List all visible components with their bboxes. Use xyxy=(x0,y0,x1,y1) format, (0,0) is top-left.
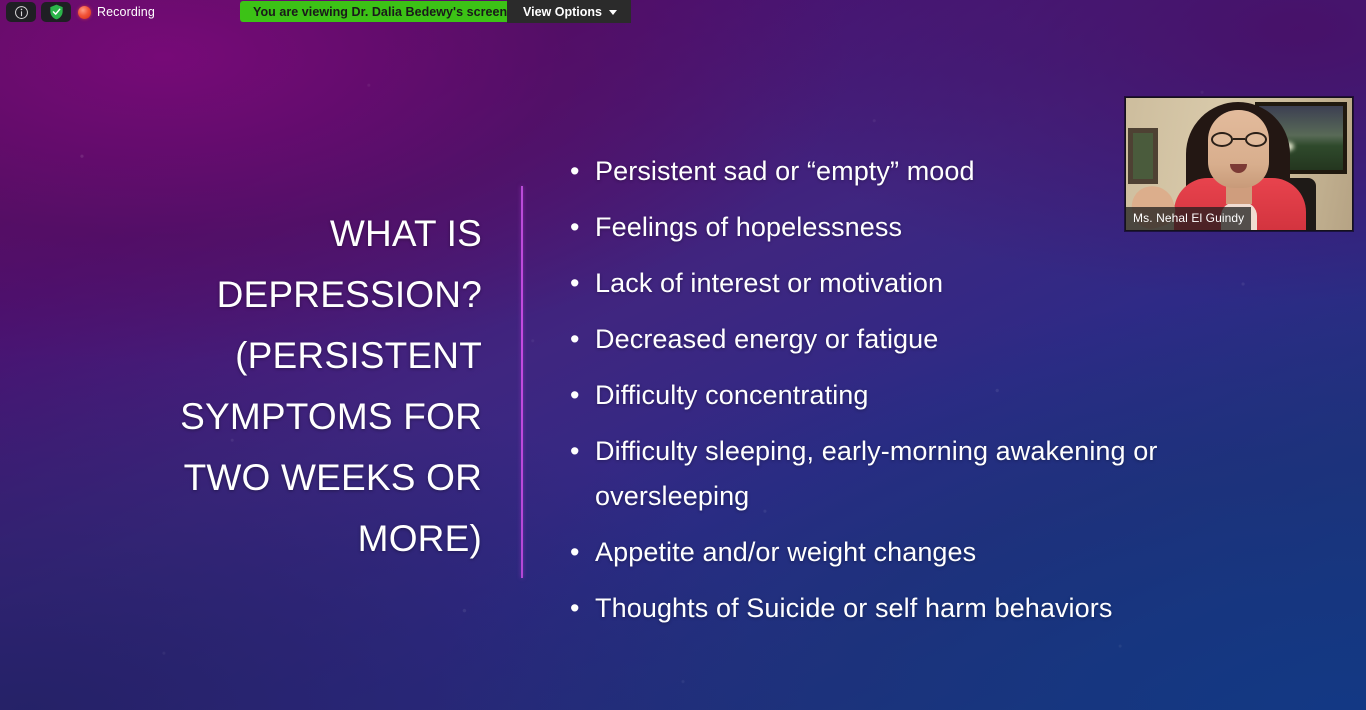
view-options-button[interactable]: View Options xyxy=(507,0,631,23)
bullet-marker-icon: • xyxy=(566,261,595,306)
list-item-label: Difficulty concentrating xyxy=(595,373,869,418)
lens-left xyxy=(1211,132,1233,147)
recording-dot-icon xyxy=(78,6,91,19)
info-icon xyxy=(14,5,29,20)
screen-share-banner: You are viewing Dr. Dalia Bedewy's scree… xyxy=(240,1,520,22)
list-item: • Difficulty sleeping, early-morning awa… xyxy=(566,429,1296,519)
bullet-marker-icon: • xyxy=(566,373,595,418)
person-face xyxy=(1208,110,1269,188)
view-options-label: View Options xyxy=(523,5,602,19)
list-item-label: Thoughts of Suicide or self harm behavio… xyxy=(595,586,1112,631)
lens-right xyxy=(1245,132,1267,147)
list-item-label: Decreased energy or fatigue xyxy=(595,317,938,362)
list-item-label: Difficulty sleeping, early-morning awake… xyxy=(595,429,1267,519)
encryption-shield-button[interactable] xyxy=(41,2,71,22)
bullet-marker-icon: • xyxy=(566,586,595,631)
shield-check-icon xyxy=(49,4,64,20)
framed-picture xyxy=(1128,128,1158,184)
participant-video-tile[interactable]: Ms. Nehal El Guindy xyxy=(1125,97,1353,231)
list-item-label: Persistent sad or “empty” mood xyxy=(595,149,975,194)
bullet-marker-icon: • xyxy=(566,149,595,194)
meeting-info-button[interactable] xyxy=(6,2,36,22)
list-item: • Thoughts of Suicide or self harm behav… xyxy=(566,586,1296,631)
chevron-down-icon xyxy=(609,10,617,15)
list-item: • Decreased energy or fatigue xyxy=(566,317,1296,362)
list-item-label: Lack of interest or motivation xyxy=(595,261,943,306)
zoom-top-bar: Recording You are viewing Dr. Dalia Bede… xyxy=(0,0,1366,23)
vertical-divider xyxy=(521,186,523,578)
list-item: • Lack of interest or motivation xyxy=(566,261,1296,306)
recording-label: Recording xyxy=(97,5,155,19)
bullet-marker-icon: • xyxy=(566,530,595,575)
recording-indicator[interactable]: Recording xyxy=(78,2,155,22)
lens-bridge xyxy=(1233,138,1245,140)
zoom-screenshare-view: WHAT IS DEPRESSION? (PERSISTENT SYMPTOMS… xyxy=(0,0,1366,710)
participant-name-label: Ms. Nehal El Guindy xyxy=(1126,207,1251,230)
list-item-label: Appetite and/or weight changes xyxy=(595,530,976,575)
list-item: • Appetite and/or weight changes xyxy=(566,530,1296,575)
bullet-marker-icon: • xyxy=(566,205,595,250)
list-item-label: Feelings of hopelessness xyxy=(595,205,902,250)
list-item: • Difficulty concentrating xyxy=(566,373,1296,418)
screen-share-banner-text: You are viewing Dr. Dalia Bedewy's scree… xyxy=(253,5,507,19)
bullet-marker-icon: • xyxy=(566,317,595,362)
eyeglasses xyxy=(1211,132,1267,147)
slide-title: WHAT IS DEPRESSION? (PERSISTENT SYMPTOMS… xyxy=(120,203,482,569)
bullet-marker-icon: • xyxy=(566,429,595,474)
